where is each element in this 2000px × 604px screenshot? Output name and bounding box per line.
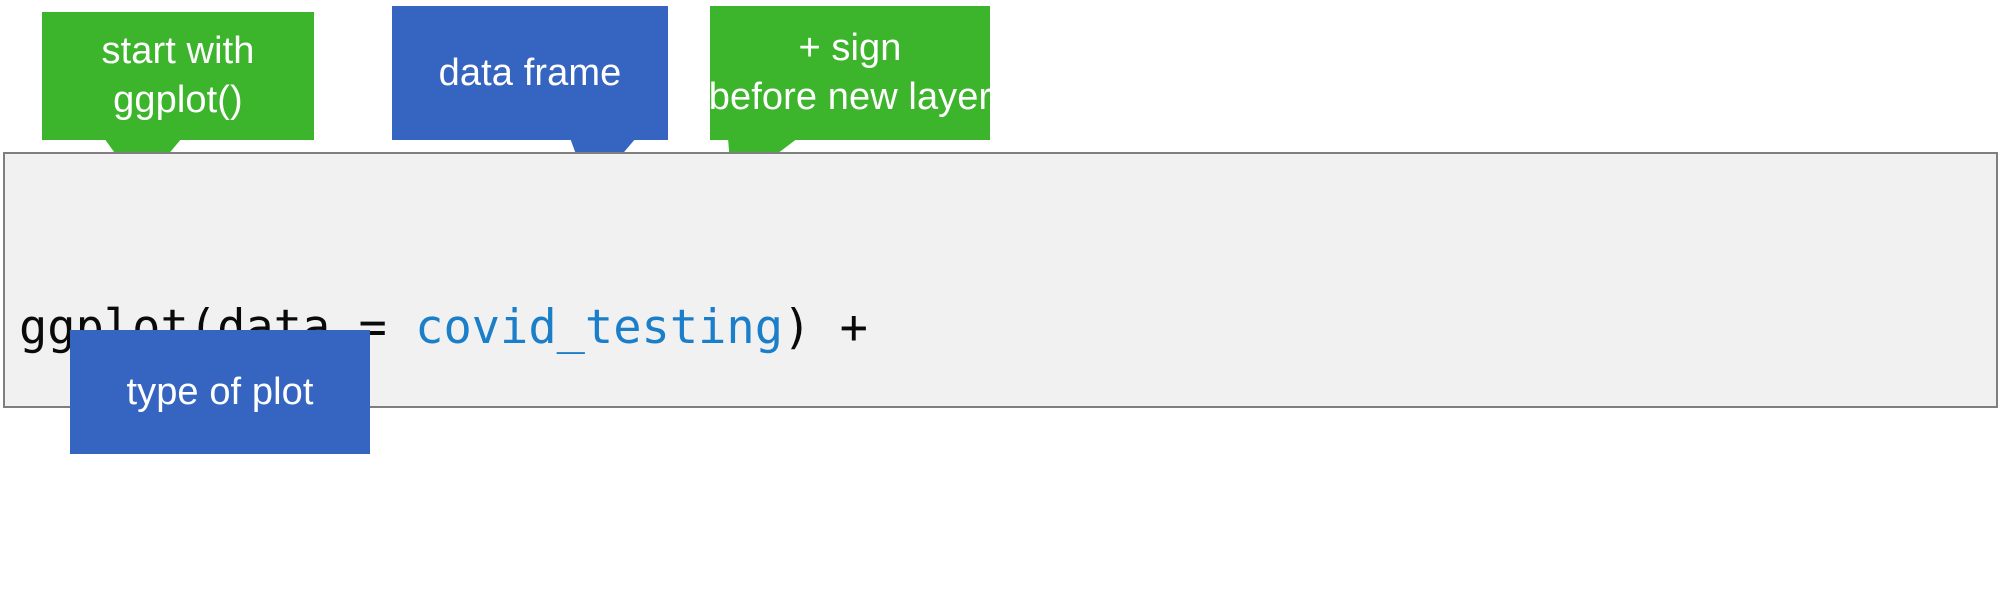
code-token-dataframe: covid_testing bbox=[415, 300, 783, 355]
callout-line: + sign bbox=[798, 24, 901, 73]
callout-line: data frame bbox=[439, 49, 622, 98]
diagram-canvas: start with ggplot() data frame + sign be… bbox=[0, 0, 2000, 604]
callout-start-with-ggplot: start with ggplot() bbox=[42, 12, 314, 140]
callout-type-of-plot: type of plot bbox=[70, 330, 370, 454]
callout-line: start with bbox=[101, 27, 254, 76]
callout-line: ggplot() bbox=[113, 76, 243, 125]
code-token-plain: ) + bbox=[783, 300, 868, 355]
callout-plus-sign: + sign before new layer bbox=[710, 6, 990, 140]
callout-line: type of plot bbox=[126, 368, 313, 417]
callout-line: before new layer bbox=[709, 73, 992, 122]
callout-data-frame: data frame bbox=[392, 6, 668, 140]
